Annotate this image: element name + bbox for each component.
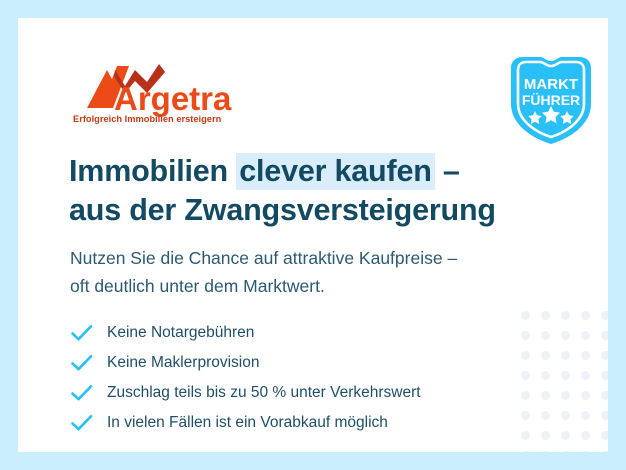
dot [581,371,590,380]
dot [521,311,530,320]
dot [561,371,570,380]
list-item-label: Keine Maklerprovision [107,354,260,373]
dot [521,391,530,400]
dot [601,371,608,380]
subheading-line2: oft deutlich unter dem Marktwert. [70,276,325,296]
list-item: Keine Maklerprovision [70,348,510,378]
benefit-list: Keine Notargebühren Keine Maklerprovisio… [70,318,510,438]
dot [601,411,608,420]
dot [601,351,608,360]
dot [561,351,570,360]
headline-line1-before: Immobilien [69,154,236,188]
dot [601,431,608,440]
dot [561,311,570,320]
dot [541,331,550,340]
dot [561,331,570,340]
dot [581,411,590,420]
dot [541,351,550,360]
check-icon [70,324,94,342]
dot [521,431,530,440]
dot [541,311,550,320]
dot [521,371,530,380]
logo-wordmark: Argetra [114,80,232,117]
dot [581,451,590,452]
dot [521,411,530,420]
badge-line2: FÜHRER [522,92,580,108]
check-icon [70,384,94,402]
badge-line1: MARKT [524,76,578,93]
list-item: In vielen Fällen ist ein Vorabkauf mögli… [70,408,510,438]
dot-grid-decoration [521,311,608,452]
argetra-logo[interactable]: Argetra Erfolgreich Immobilien ersteiger… [73,60,233,126]
logo-tagline: Erfolgreich Immobilien ersteigern [73,114,222,124]
dot [541,411,550,420]
list-item: Keine Notargebühren [70,318,510,348]
dot [541,451,550,452]
market-leader-badge: MARKT FÜHRER [507,54,595,146]
page-title: Immobilien clever kaufen – aus der Zwang… [69,152,549,230]
dot [541,391,550,400]
list-item-label: Keine Notargebühren [107,324,254,343]
list-item-label: In vielen Fällen ist ein Vorabkauf mögli… [107,414,388,433]
dot [561,391,570,400]
dot [601,331,608,340]
dot [541,371,550,380]
dot [601,451,608,452]
subheading: Nutzen Sie die Chance auf attraktive Kau… [70,244,540,301]
dot [521,451,530,452]
check-icon [70,414,94,432]
dot [581,311,590,320]
dot [581,331,590,340]
list-item-label: Zuschlag teils bis zu 50 % unter Verkehr… [107,384,421,403]
subheading-line1: Nutzen Sie die Chance auf attraktive Kau… [70,248,457,268]
dot [561,411,570,420]
promo-card: Argetra Erfolgreich Immobilien ersteiger… [18,18,608,452]
dot [561,431,570,440]
headline-line2: aus der Zwangsversteigerung [69,193,496,227]
dot [581,431,590,440]
headline-highlight: clever kaufen [236,153,434,190]
list-item: Zuschlag teils bis zu 50 % unter Verkehr… [70,378,510,408]
dot [521,331,530,340]
dot [561,451,570,452]
dot [521,351,530,360]
check-icon [70,354,94,372]
dot [601,391,608,400]
dot [541,431,550,440]
dot [581,351,590,360]
dot [581,391,590,400]
headline-line1-after: – [435,154,460,188]
dot [601,311,608,320]
